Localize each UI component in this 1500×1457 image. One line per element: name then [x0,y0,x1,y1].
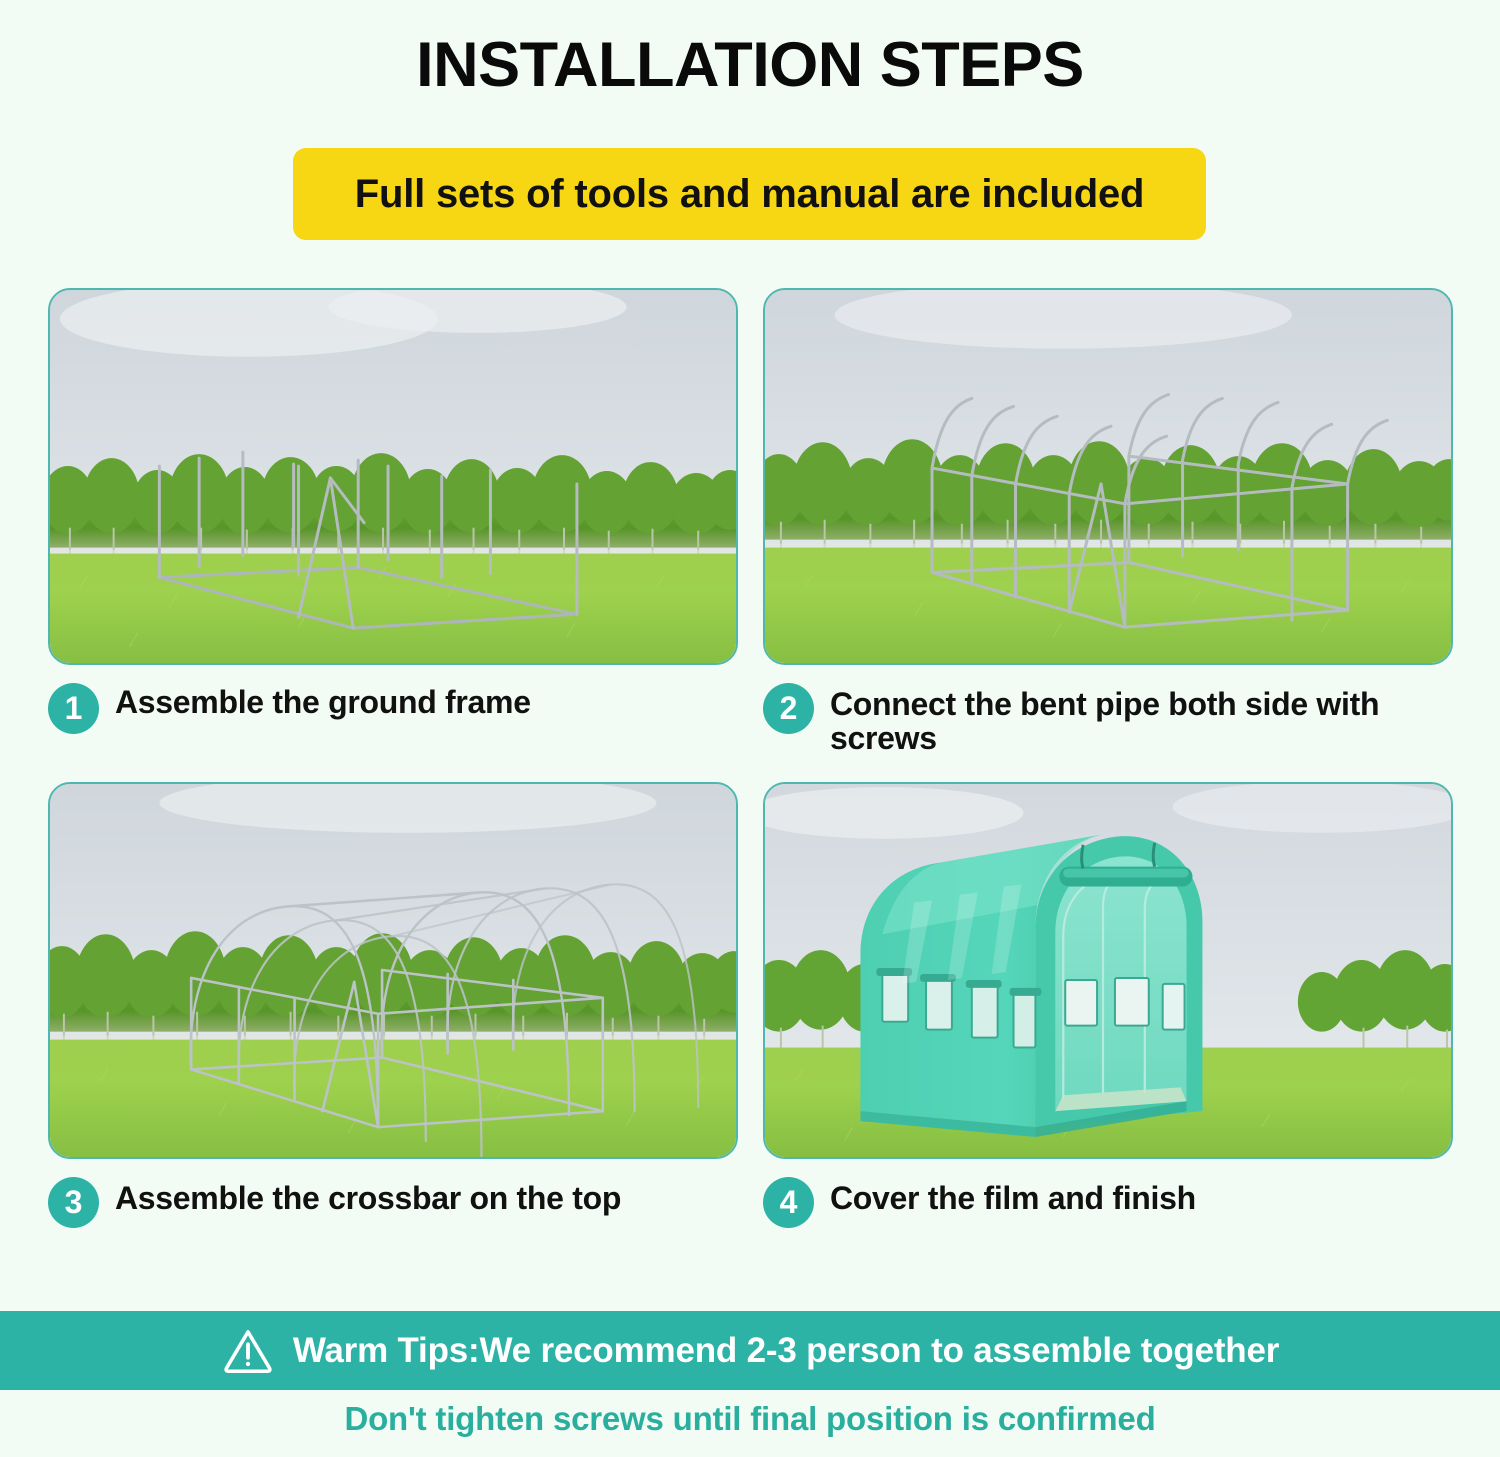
step-2-caption: 2 Connect the bent pipe both side with s… [763,681,1453,755]
step-card-3: 3 Assemble the crossbar on the top [48,782,738,1237]
footer-note: Don't tighten screws until final positio… [0,1400,1500,1438]
step-2-number-badge: 2 [763,683,814,734]
step-4-caption: 4 Cover the film and finish [763,1175,1453,1237]
step-3-caption: 3 Assemble the crossbar on the top [48,1175,738,1237]
step-card-4: 4 Cover the film and finish [763,782,1453,1237]
step-1-label: Assemble the ground frame [115,681,531,719]
step-card-1: 1 Assemble the ground frame [48,288,738,755]
step-4-number-badge: 4 [763,1177,814,1228]
step-2-label: Connect the bent pipe both side with scr… [830,681,1453,755]
step-4-photo [763,782,1453,1159]
step-2-photo [763,288,1453,665]
steps-grid: 1 Assemble the ground frame [48,288,1452,1237]
step-card-2: 2 Connect the bent pipe both side with s… [763,288,1453,755]
step-3-photo [48,782,738,1159]
step-4-label: Cover the film and finish [830,1175,1196,1215]
warm-tips-text: Warm Tips:We recommend 2-3 person to ass… [293,1331,1279,1371]
step-1-caption: 1 Assemble the ground frame [48,681,738,743]
step-1-number-badge: 1 [48,683,99,734]
step-3-number-badge: 3 [48,1177,99,1228]
tools-included-banner: Full sets of tools and manual are includ… [293,148,1206,240]
warning-triangle-icon [221,1324,275,1378]
warm-tips-bar: Warm Tips:We recommend 2-3 person to ass… [0,1311,1500,1390]
step-3-label: Assemble the crossbar on the top [115,1175,621,1215]
page-title: INSTALLATION STEPS [0,34,1500,97]
step-1-photo [48,288,738,665]
banner-label: Full sets of tools and manual are includ… [355,172,1145,217]
installation-steps-infographic: INSTALLATION STEPS Full sets of tools an… [0,0,1500,1457]
